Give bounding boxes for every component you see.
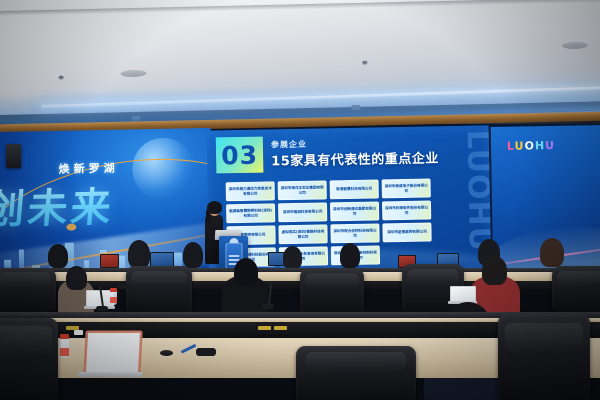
chair — [126, 266, 192, 314]
company-box: 深圳市瑞湖科技有限公司 — [278, 202, 327, 222]
chair — [300, 268, 364, 314]
attendee-head — [234, 258, 258, 286]
company-name: 虚拟现实(深圳)智能科技有限公司 — [279, 229, 326, 239]
desk-puck-device — [160, 350, 173, 356]
company-name: 深圳市海洋王实业集团有限公司 — [279, 185, 326, 195]
cable-connector — [74, 330, 83, 335]
attendee-head — [283, 246, 302, 269]
desk-monitor — [150, 252, 174, 267]
chair — [0, 268, 56, 312]
company-box: 虚拟现实(深圳)智能科技有限公司 — [278, 224, 327, 244]
water-bottle — [60, 334, 69, 358]
desk-panel-tag — [274, 326, 287, 330]
luohu-logo-letter: O — [524, 139, 535, 152]
chair — [0, 318, 58, 400]
attendee-head — [482, 256, 507, 285]
company-box: 深圳市超力通动力信息技术有限公司 — [226, 181, 275, 201]
company-name: 能源森智慧照明科技(深圳)有限公司 — [227, 208, 274, 218]
wall-speaker-icon — [6, 144, 21, 168]
slide-kicker: 参展企业 — [271, 139, 307, 151]
chair — [296, 346, 416, 400]
company-name: 深圳市瑞湖科技有限公司 — [282, 210, 324, 215]
company-box: 深圳市星银医药有限公司 — [382, 222, 431, 242]
company-name: 深圳市超力通动力信息技术有限公司 — [227, 186, 274, 196]
luohu-logo-letter: H — [535, 139, 545, 152]
attendee-head — [540, 238, 564, 267]
microphone-base — [118, 284, 130, 289]
ceiling-speaker-icon — [120, 70, 146, 78]
attendee-head — [66, 266, 87, 290]
company-box: 深圳市海洋王实业集团有限公司 — [278, 180, 327, 200]
ceiling-speaker-icon — [562, 42, 588, 50]
luohu-logo: LUOHU — [507, 139, 555, 153]
company-name: 深圳市美威电子股份有限公司 — [383, 184, 430, 194]
ceiling-fixture-icon — [59, 76, 64, 79]
company-name: 深圳市联合创控科技有限公司 — [331, 228, 378, 238]
company-name: 联通智慧科技有限公司 — [335, 187, 373, 192]
banner-headline: 创未来 — [0, 175, 117, 236]
company-box: 深圳市科荣软件股份有限公司 — [382, 200, 431, 220]
attendee-head — [183, 242, 203, 268]
chair — [498, 314, 590, 400]
conference-hall-photo: 焕新罗湖 创未来 LUOHU 03 参展企业 15家具有代表性的重点企业 深圳市… — [0, 0, 600, 400]
company-name: 深圳市科荣软件股份有限公司 — [383, 206, 430, 216]
presenter-hair — [207, 201, 222, 214]
water-bottle — [110, 288, 117, 305]
company-name: 深圳市创新通达集团有限公司 — [331, 206, 378, 216]
company-box: 能源森智慧照明科技(深圳)有限公司 — [226, 203, 275, 223]
company-box: 联通智慧科技有限公司 — [330, 179, 379, 199]
microphone-base — [196, 348, 216, 356]
attendee-head — [128, 240, 150, 268]
slide-section-badge: 03 — [216, 137, 264, 174]
company-box: 深圳市美威电子股份有限公司 — [382, 179, 431, 199]
company-box: 深圳市创新通达集团有限公司 — [330, 201, 379, 221]
luohu-logo-letter: U — [545, 139, 555, 152]
attendee-head — [48, 244, 68, 268]
attendee-head — [340, 243, 360, 268]
company-box: 深圳市联合创控科技有限公司 — [330, 223, 379, 243]
company-name: 深圳市星银医药有限公司 — [386, 230, 428, 235]
desk-monitor — [100, 254, 119, 268]
desk-panel-tag — [258, 326, 271, 330]
ceiling-fixture-icon — [362, 61, 367, 64]
luohu-logo-letter: U — [514, 139, 524, 152]
chair — [552, 266, 600, 312]
slide-badge-number: 03 — [221, 142, 258, 168]
slide-title: 15家具有代表性的重点企业 — [271, 147, 439, 169]
